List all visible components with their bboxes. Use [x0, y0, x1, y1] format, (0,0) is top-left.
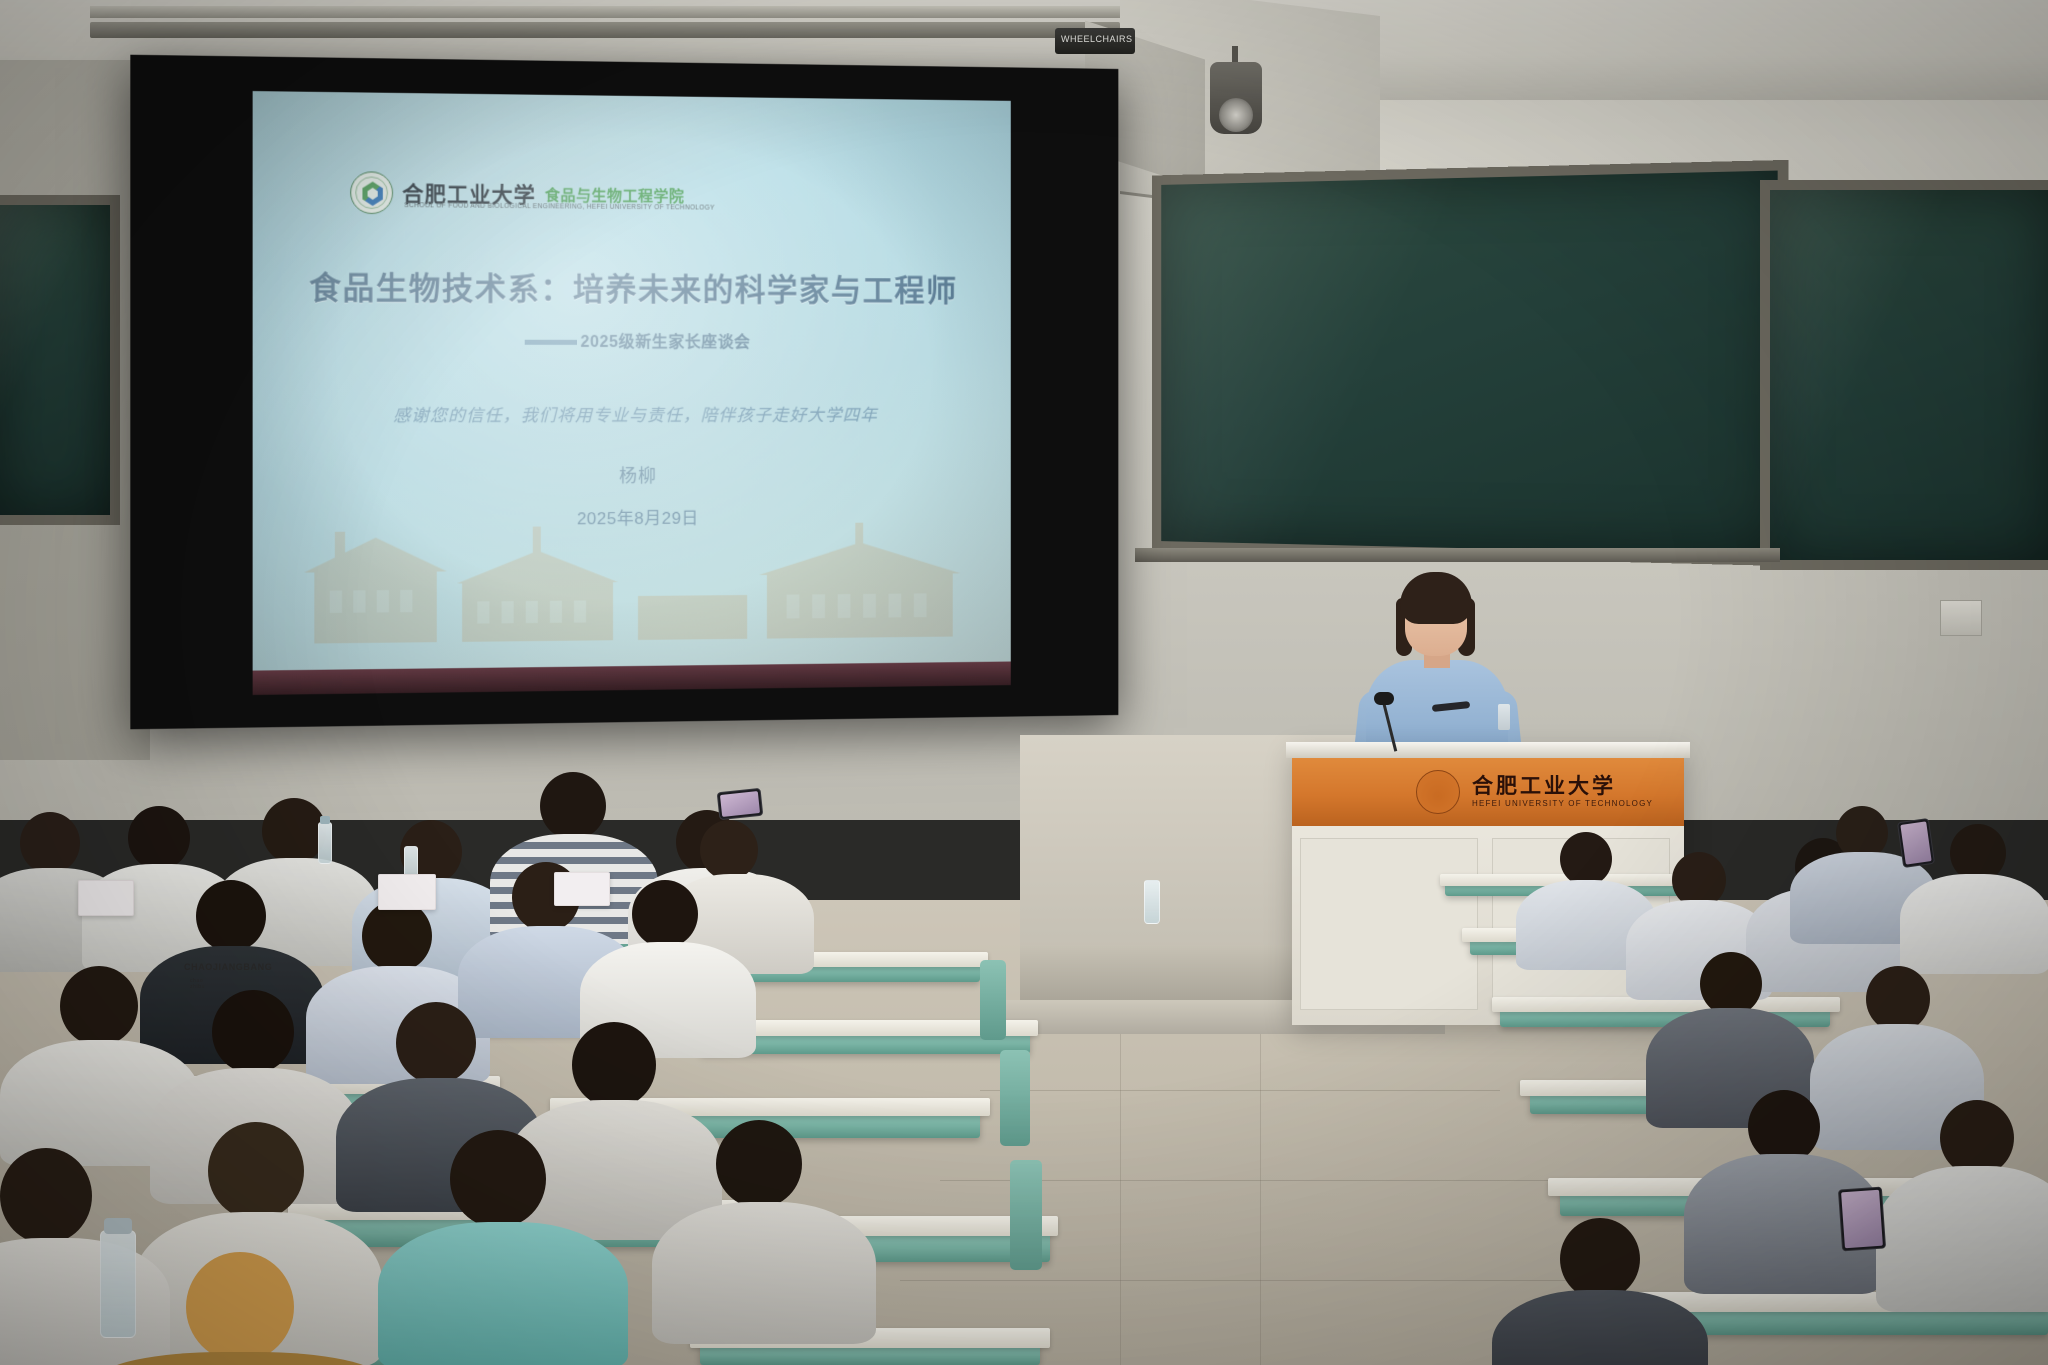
chalk-tray	[1135, 548, 1780, 562]
ceiling-rail	[90, 22, 1120, 38]
bottle-cap	[104, 1218, 132, 1234]
podium-water-bottle	[1498, 704, 1510, 730]
name-card	[378, 874, 436, 910]
podium-seal-icon	[1416, 770, 1460, 814]
water-bottle[interactable]	[1144, 880, 1160, 924]
podium-top-surface	[1286, 742, 1690, 758]
lecture-hall-photo: WHEELCHAIRS 合肥工业大学 食品与生物工程学院 SCHOOL OF F…	[0, 0, 2048, 1365]
name-card	[78, 880, 134, 916]
ceiling-rail-upper	[90, 6, 1120, 18]
water-bottle[interactable]	[100, 1230, 136, 1338]
podium-sign-en: HEFEI UNIVERSITY OF TECHNOLOGY	[1472, 799, 1653, 808]
audience-shirt-text: CHAOJIANGBANG	[184, 962, 272, 972]
wall-outlet-panel	[1940, 600, 1982, 636]
bottle-cap	[320, 816, 330, 824]
podium-sign-cn: 合肥工业大学	[1472, 770, 1616, 800]
ceiling-speaker	[1210, 62, 1262, 134]
audience-shirt-subtext: chao zhibu	[190, 978, 205, 990]
name-card	[554, 872, 610, 906]
microphone-head	[1374, 692, 1394, 705]
projection-screen: 合肥工业大学 食品与生物工程学院 SCHOOL OF FOOD AND BIOL…	[130, 55, 1118, 730]
blackboard-center	[1152, 160, 1788, 566]
blackboard-left	[0, 195, 120, 525]
podium-panel-left	[1300, 838, 1478, 1010]
blackboard-right	[1760, 180, 2048, 570]
projector-mount: WHEELCHAIRS	[1055, 28, 1135, 54]
phone-recording[interactable]	[1838, 1187, 1886, 1252]
projector-brand-label: WHEELCHAIRS	[1061, 34, 1133, 44]
slide-surface: 合肥工业大学 食品与生物工程学院 SCHOOL OF FOOD AND BIOL…	[253, 91, 1011, 671]
water-bottle[interactable]	[318, 822, 332, 864]
phone-recording[interactable]	[717, 788, 764, 820]
phone-recording[interactable]	[1897, 818, 1935, 868]
